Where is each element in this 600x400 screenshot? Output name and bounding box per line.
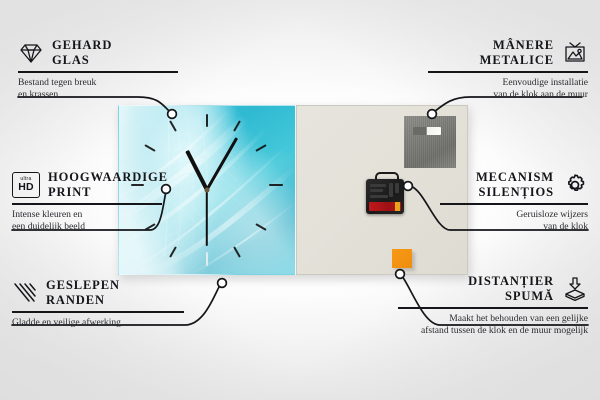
feature-title-line1: MECANISM xyxy=(476,170,554,185)
feature-manere-metalice: MÂNERE METALICE Eenvoudige installatie v… xyxy=(428,38,588,101)
feature-header: GEHARD GLAS xyxy=(18,38,178,68)
feature-geslepen-randen: GESLEPEN RANDEN Gladde en veilige afwerk… xyxy=(12,278,184,329)
feature-divider xyxy=(428,71,588,73)
picture-hanger-icon xyxy=(562,40,588,66)
feature-divider xyxy=(12,311,184,313)
feature-title-line2: RANDEN xyxy=(46,293,120,308)
feature-desc-line1: Eenvoudige installatie xyxy=(428,77,588,89)
feature-desc-line2: van de klok xyxy=(440,221,588,233)
ultra-hd-icon-large-text: HD xyxy=(18,182,34,193)
feature-header: MECANISM SILENȚIOS xyxy=(440,170,588,200)
spacer-press-icon xyxy=(562,276,588,302)
feature-desc-line1: Intense kleuren en xyxy=(12,209,168,221)
mechanism-housing xyxy=(366,179,404,214)
product-infographic: GEHARD GLAS Bestand tegen breuk en krass… xyxy=(0,0,600,400)
diamond-icon xyxy=(18,40,44,66)
clock-tick xyxy=(206,252,208,266)
metal-hanger-bracket xyxy=(404,116,456,168)
clock-pivot xyxy=(205,188,210,193)
gear-icon xyxy=(562,172,588,198)
feature-desc-line2: van de klok aan de muur xyxy=(428,89,588,101)
aa-battery xyxy=(369,202,401,211)
foam-spacer xyxy=(392,249,412,268)
feature-gehard-glas: GEHARD GLAS Bestand tegen breuk en krass… xyxy=(18,38,178,101)
feature-title-line1: DISTANȚIER xyxy=(468,274,554,289)
feature-desc-line2: afstand tussen de klok en de muur mogeli… xyxy=(398,325,588,337)
feature-title-line2: GLAS xyxy=(52,53,112,68)
feature-desc-line1: Gladde en veilige afwerking xyxy=(12,317,184,329)
feature-mecanism-silentios: MECANISM SILENȚIOS Geruisloze wijzers va… xyxy=(440,170,588,233)
feature-title-line2: SPUMĂ xyxy=(468,289,554,304)
feature-hoogwaardige-print: ultra HD HOOGWAARDIGE PRINT Intense kleu… xyxy=(12,170,168,233)
clock-second-hand xyxy=(206,190,208,246)
clock-mechanism xyxy=(366,172,404,214)
ultra-hd-icon: ultra HD xyxy=(12,172,40,198)
feature-title-line2: METALICE xyxy=(480,53,554,68)
feature-header: ultra HD HOOGWAARDIGE PRINT xyxy=(12,170,168,200)
feature-divider xyxy=(18,71,178,73)
feature-desc-line2: en krassen xyxy=(18,89,178,101)
connector-dot-randen xyxy=(218,279,227,288)
hanger-keyhole-slot xyxy=(413,127,441,135)
feature-desc-line1: Maakt het behouden van een gelijke xyxy=(398,313,588,325)
feature-distantier-spuma: DISTANȚIER SPUMĂ Maakt het behouden van … xyxy=(398,274,588,337)
beveled-edges-icon xyxy=(12,280,38,306)
feature-divider xyxy=(440,203,588,205)
battery-positive-terminal xyxy=(395,202,400,211)
feature-header: GESLEPEN RANDEN xyxy=(12,278,184,308)
feature-title-line2: SILENȚIOS xyxy=(476,185,554,200)
feature-title-line2: PRINT xyxy=(48,185,168,200)
feature-divider xyxy=(398,307,588,309)
clock-tick xyxy=(269,184,283,186)
feature-desc-line1: Geruisloze wijzers xyxy=(440,209,588,221)
feature-desc-line1: Bestand tegen breuk xyxy=(18,77,178,89)
feature-title-line1: MÂNERE xyxy=(480,38,554,53)
feature-title-line1: GEHARD xyxy=(52,38,112,53)
feature-title-line1: HOOGWAARDIGE xyxy=(48,170,168,185)
feature-header: DISTANȚIER SPUMĂ xyxy=(398,274,588,304)
feature-divider xyxy=(12,203,162,205)
clock-tick xyxy=(206,114,208,127)
feature-desc-line2: een duidelijk beeld xyxy=(12,221,168,233)
feature-title-line1: GESLEPEN xyxy=(46,278,120,293)
feature-header: MÂNERE METALICE xyxy=(428,38,588,68)
